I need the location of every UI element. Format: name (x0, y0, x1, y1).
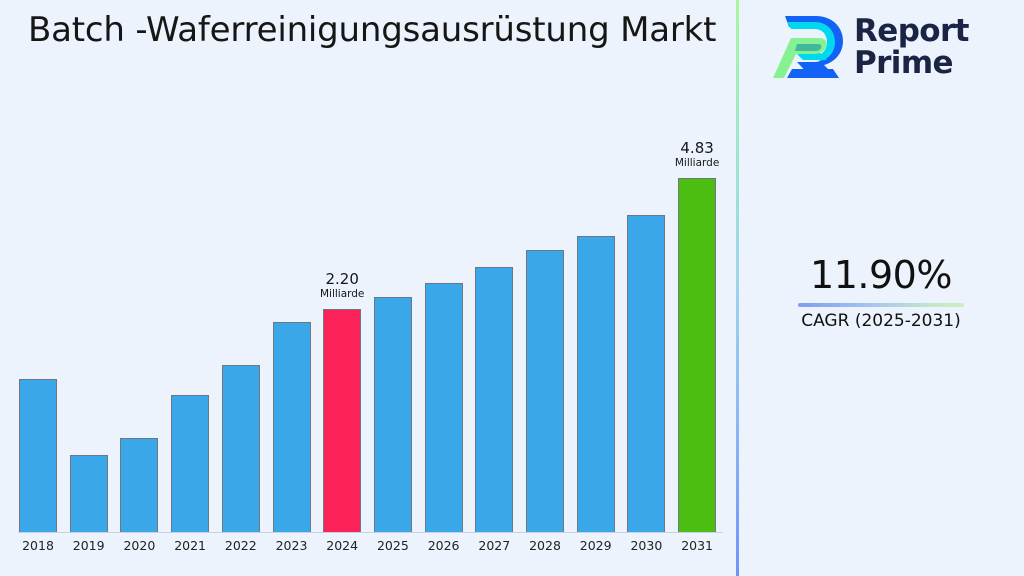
side-panel: Report Prime 11.90% CAGR (2025-2031) (737, 0, 1024, 576)
bar-2025[interactable] (374, 297, 412, 532)
bar-2027[interactable] (475, 267, 513, 532)
bar-2026[interactable] (425, 283, 463, 532)
bar-2022[interactable] (222, 365, 260, 532)
cagr-divider-rule (798, 303, 964, 307)
bar-chart-plot-area: 2018201920202021202220232.20Milliarde202… (0, 0, 737, 576)
bar-2029[interactable] (577, 236, 615, 532)
bar-2023[interactable] (273, 322, 311, 532)
bar-value-number-2024: 2.20 (292, 270, 392, 288)
bar-2020[interactable] (120, 438, 158, 532)
brand-wordmark-line2: Prime (854, 47, 969, 79)
brand-wordmark: Report Prime (854, 15, 969, 79)
brand-logo[interactable]: Report Prime (771, 12, 969, 82)
bar-2028[interactable] (526, 250, 564, 532)
cagr-label: CAGR (2025-2031) (795, 310, 967, 332)
x-axis-tick-2031: 2031 (667, 538, 727, 554)
bar-2021[interactable] (171, 395, 209, 532)
bar-2019[interactable] (70, 455, 108, 532)
bar-2030[interactable] (627, 215, 665, 532)
cagr-value: 11.90% (795, 252, 967, 298)
x-axis-baseline (18, 532, 723, 533)
bar-2018[interactable] (19, 379, 57, 532)
bar-value-number-2031: 4.83 (647, 139, 747, 157)
cagr-block: 11.90% CAGR (2025-2031) (795, 252, 967, 332)
infographic-root: Batch -Waferreinigungsausrüstung Markt 2… (0, 0, 1024, 576)
bar-2024[interactable] (323, 309, 361, 532)
bar-value-unit-2031: Milliarde (647, 157, 747, 170)
chart-panel: Batch -Waferreinigungsausrüstung Markt 2… (0, 0, 737, 576)
bar-2031[interactable] (678, 178, 716, 532)
bar-value-label-2031: 4.83Milliarde (647, 139, 747, 170)
report-prime-logo-mark (771, 12, 845, 82)
brand-wordmark-line1: Report (854, 15, 969, 47)
